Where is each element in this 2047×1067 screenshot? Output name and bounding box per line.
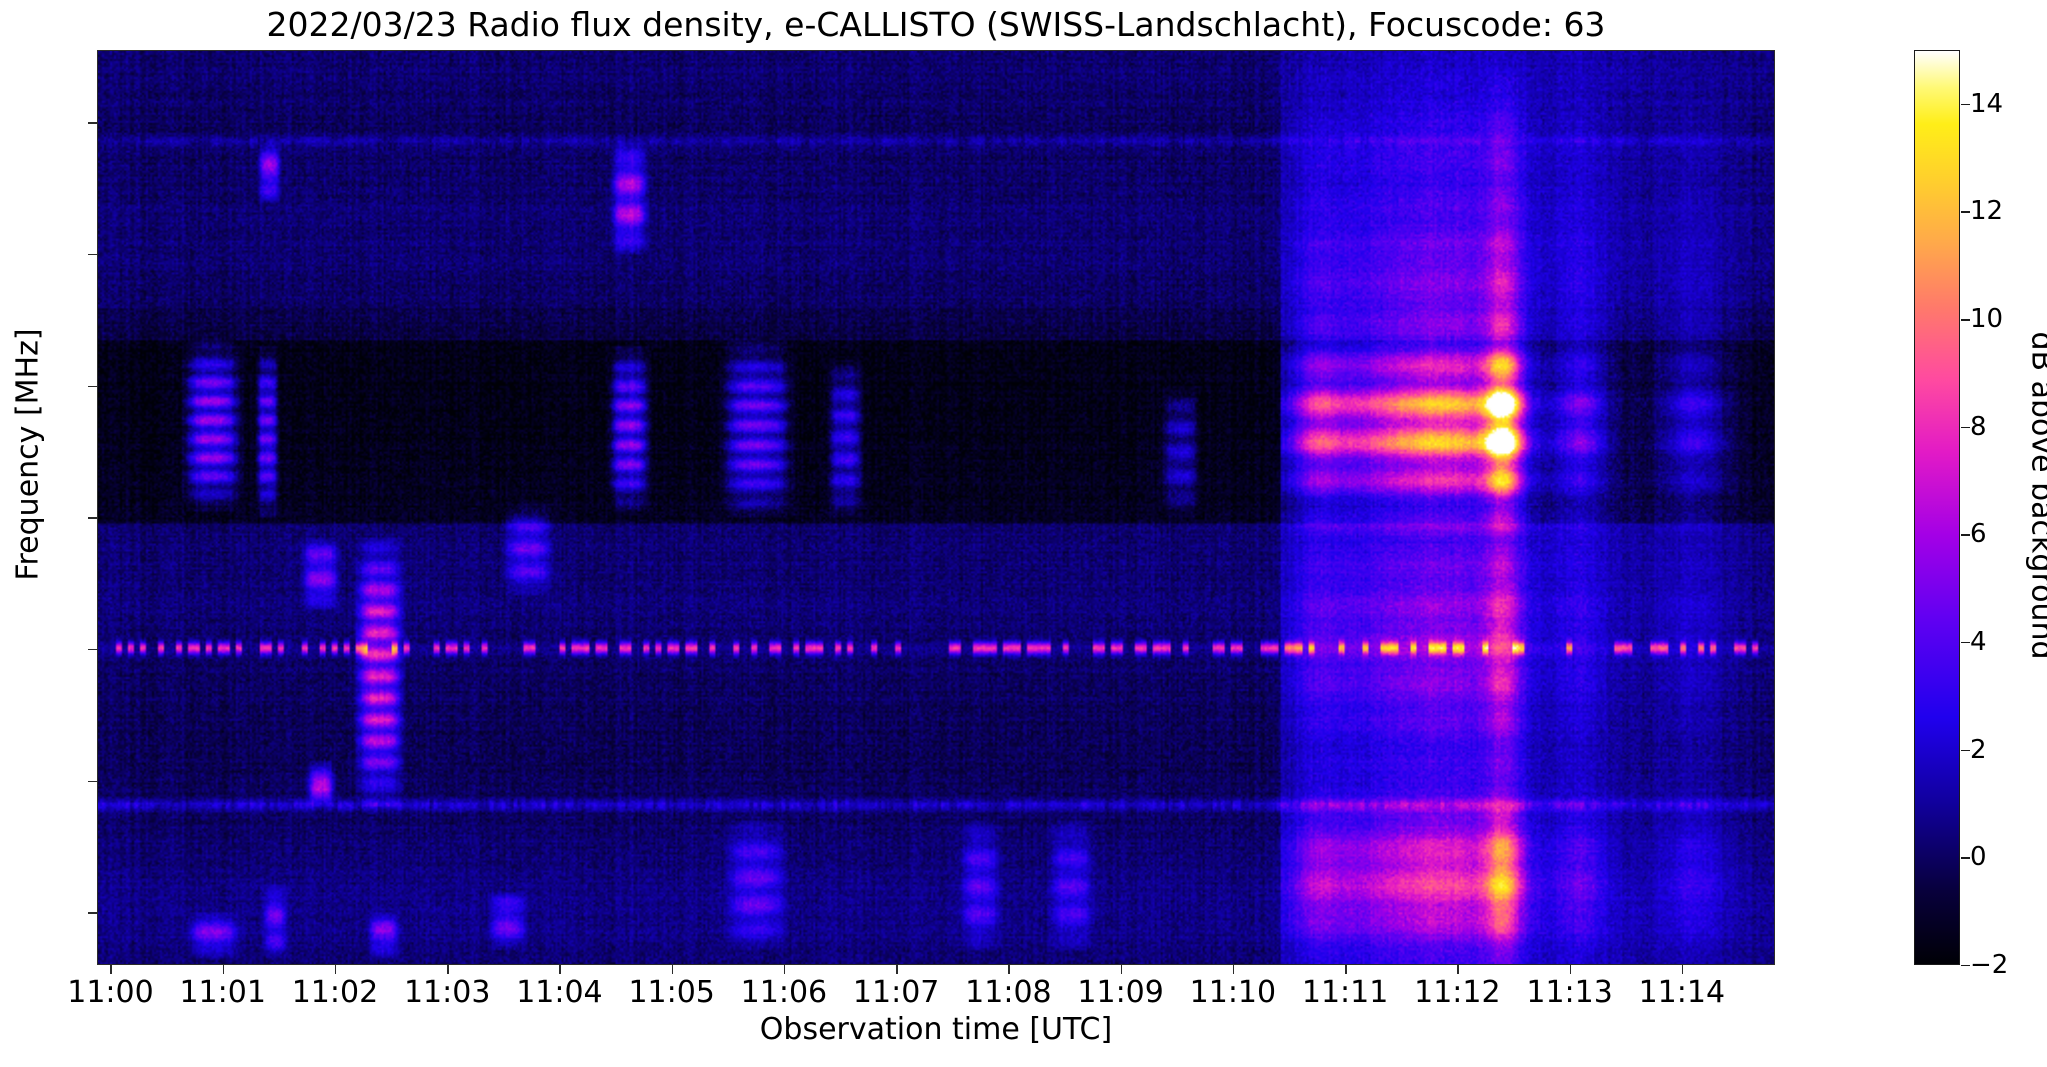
x-axis-tick-label: 11:05 [628,975,714,1010]
y-axis-tick-mark [88,781,97,782]
x-axis-tick-label: 11:08 [965,975,1051,1010]
x-axis-tick-label: 11:01 [179,975,265,1010]
colorbar-tick-label: 4 [1970,627,1987,657]
x-axis-tick-label: 11:13 [1526,975,1612,1010]
x-axis-tick-mark [896,965,897,974]
colorbar-tick-label: −2 [1970,950,2008,980]
x-axis-tick-mark [1457,965,1458,974]
y-axis-tick-mark [88,254,97,255]
colorbar-tick-mark [1961,104,1970,105]
x-axis-tick-mark [223,965,224,974]
x-axis-tick-label: 11:04 [516,975,602,1010]
spectrogram-image [98,51,1774,964]
x-axis-tick-mark [1121,965,1122,974]
colorbar-tick-mark [1961,427,1970,428]
spectrogram-plot-area[interactable] [97,50,1775,965]
x-axis-tick-label: 11:00 [67,975,153,1010]
y-axis-label: Frequency [MHz] [11,195,46,715]
x-axis-tick-label: 11:07 [853,975,939,1010]
x-axis-tick-mark [672,965,673,974]
colorbar-tick-mark [1961,534,1970,535]
x-axis-tick-mark [1233,965,1234,974]
x-axis-tick-label: 11:06 [741,975,827,1010]
colorbar-tick-mark [1961,965,1970,966]
x-axis-tick-label: 11:02 [292,975,378,1010]
x-axis-tick-mark [1008,965,1009,974]
colorbar-tick-mark [1961,642,1970,643]
colorbar-tick-label: 8 [1970,412,1987,442]
colorbar-tick-mark [1961,211,1970,212]
x-axis-tick-label: 11:03 [404,975,490,1010]
x-axis-tick-mark [110,965,111,974]
x-axis-tick-mark [559,965,560,974]
colorbar-tick-label: 6 [1970,519,1987,549]
colorbar-label: dB above background [2025,216,2047,776]
colorbar-tick-label: 2 [1970,735,1987,765]
colorbar-tick-label: 10 [1970,304,2003,334]
x-axis-tick-mark [784,965,785,974]
y-axis-tick-mark [88,912,97,913]
x-axis-label: Observation time [UTC] [97,1012,1775,1047]
colorbar-tick-label: 14 [1970,89,2003,119]
x-axis-tick-mark [335,965,336,974]
colorbar-tick-mark [1961,750,1970,751]
page-title: 2022/03/23 Radio flux density, e-CALLIST… [97,6,1775,44]
colorbar-tick-mark [1961,857,1970,858]
spectrogram-figure: 2022/03/23 Radio flux density, e-CALLIST… [0,0,2047,1067]
x-axis-tick-label: 11:12 [1414,975,1500,1010]
x-axis-tick-label: 11:10 [1190,975,1276,1010]
x-axis-tick-mark [1570,965,1571,974]
x-axis-tick-label: 11:09 [1077,975,1163,1010]
colorbar-tick-label: 0 [1970,842,1987,872]
colorbar-tick-mark [1961,319,1970,320]
x-axis-tick-label: 11:11 [1302,975,1388,1010]
y-axis-tick-mark [88,386,97,387]
x-axis-tick-mark [1345,965,1346,974]
y-axis-tick-mark [88,122,97,123]
y-axis-tick-mark [88,649,97,650]
x-axis-tick-label: 11:14 [1639,975,1725,1010]
x-axis-tick-mark [447,965,448,974]
colorbar-tick-label: 12 [1970,196,2003,226]
colorbar [1914,50,1960,965]
x-axis-tick-mark [1682,965,1683,974]
y-axis-tick-mark [88,517,97,518]
